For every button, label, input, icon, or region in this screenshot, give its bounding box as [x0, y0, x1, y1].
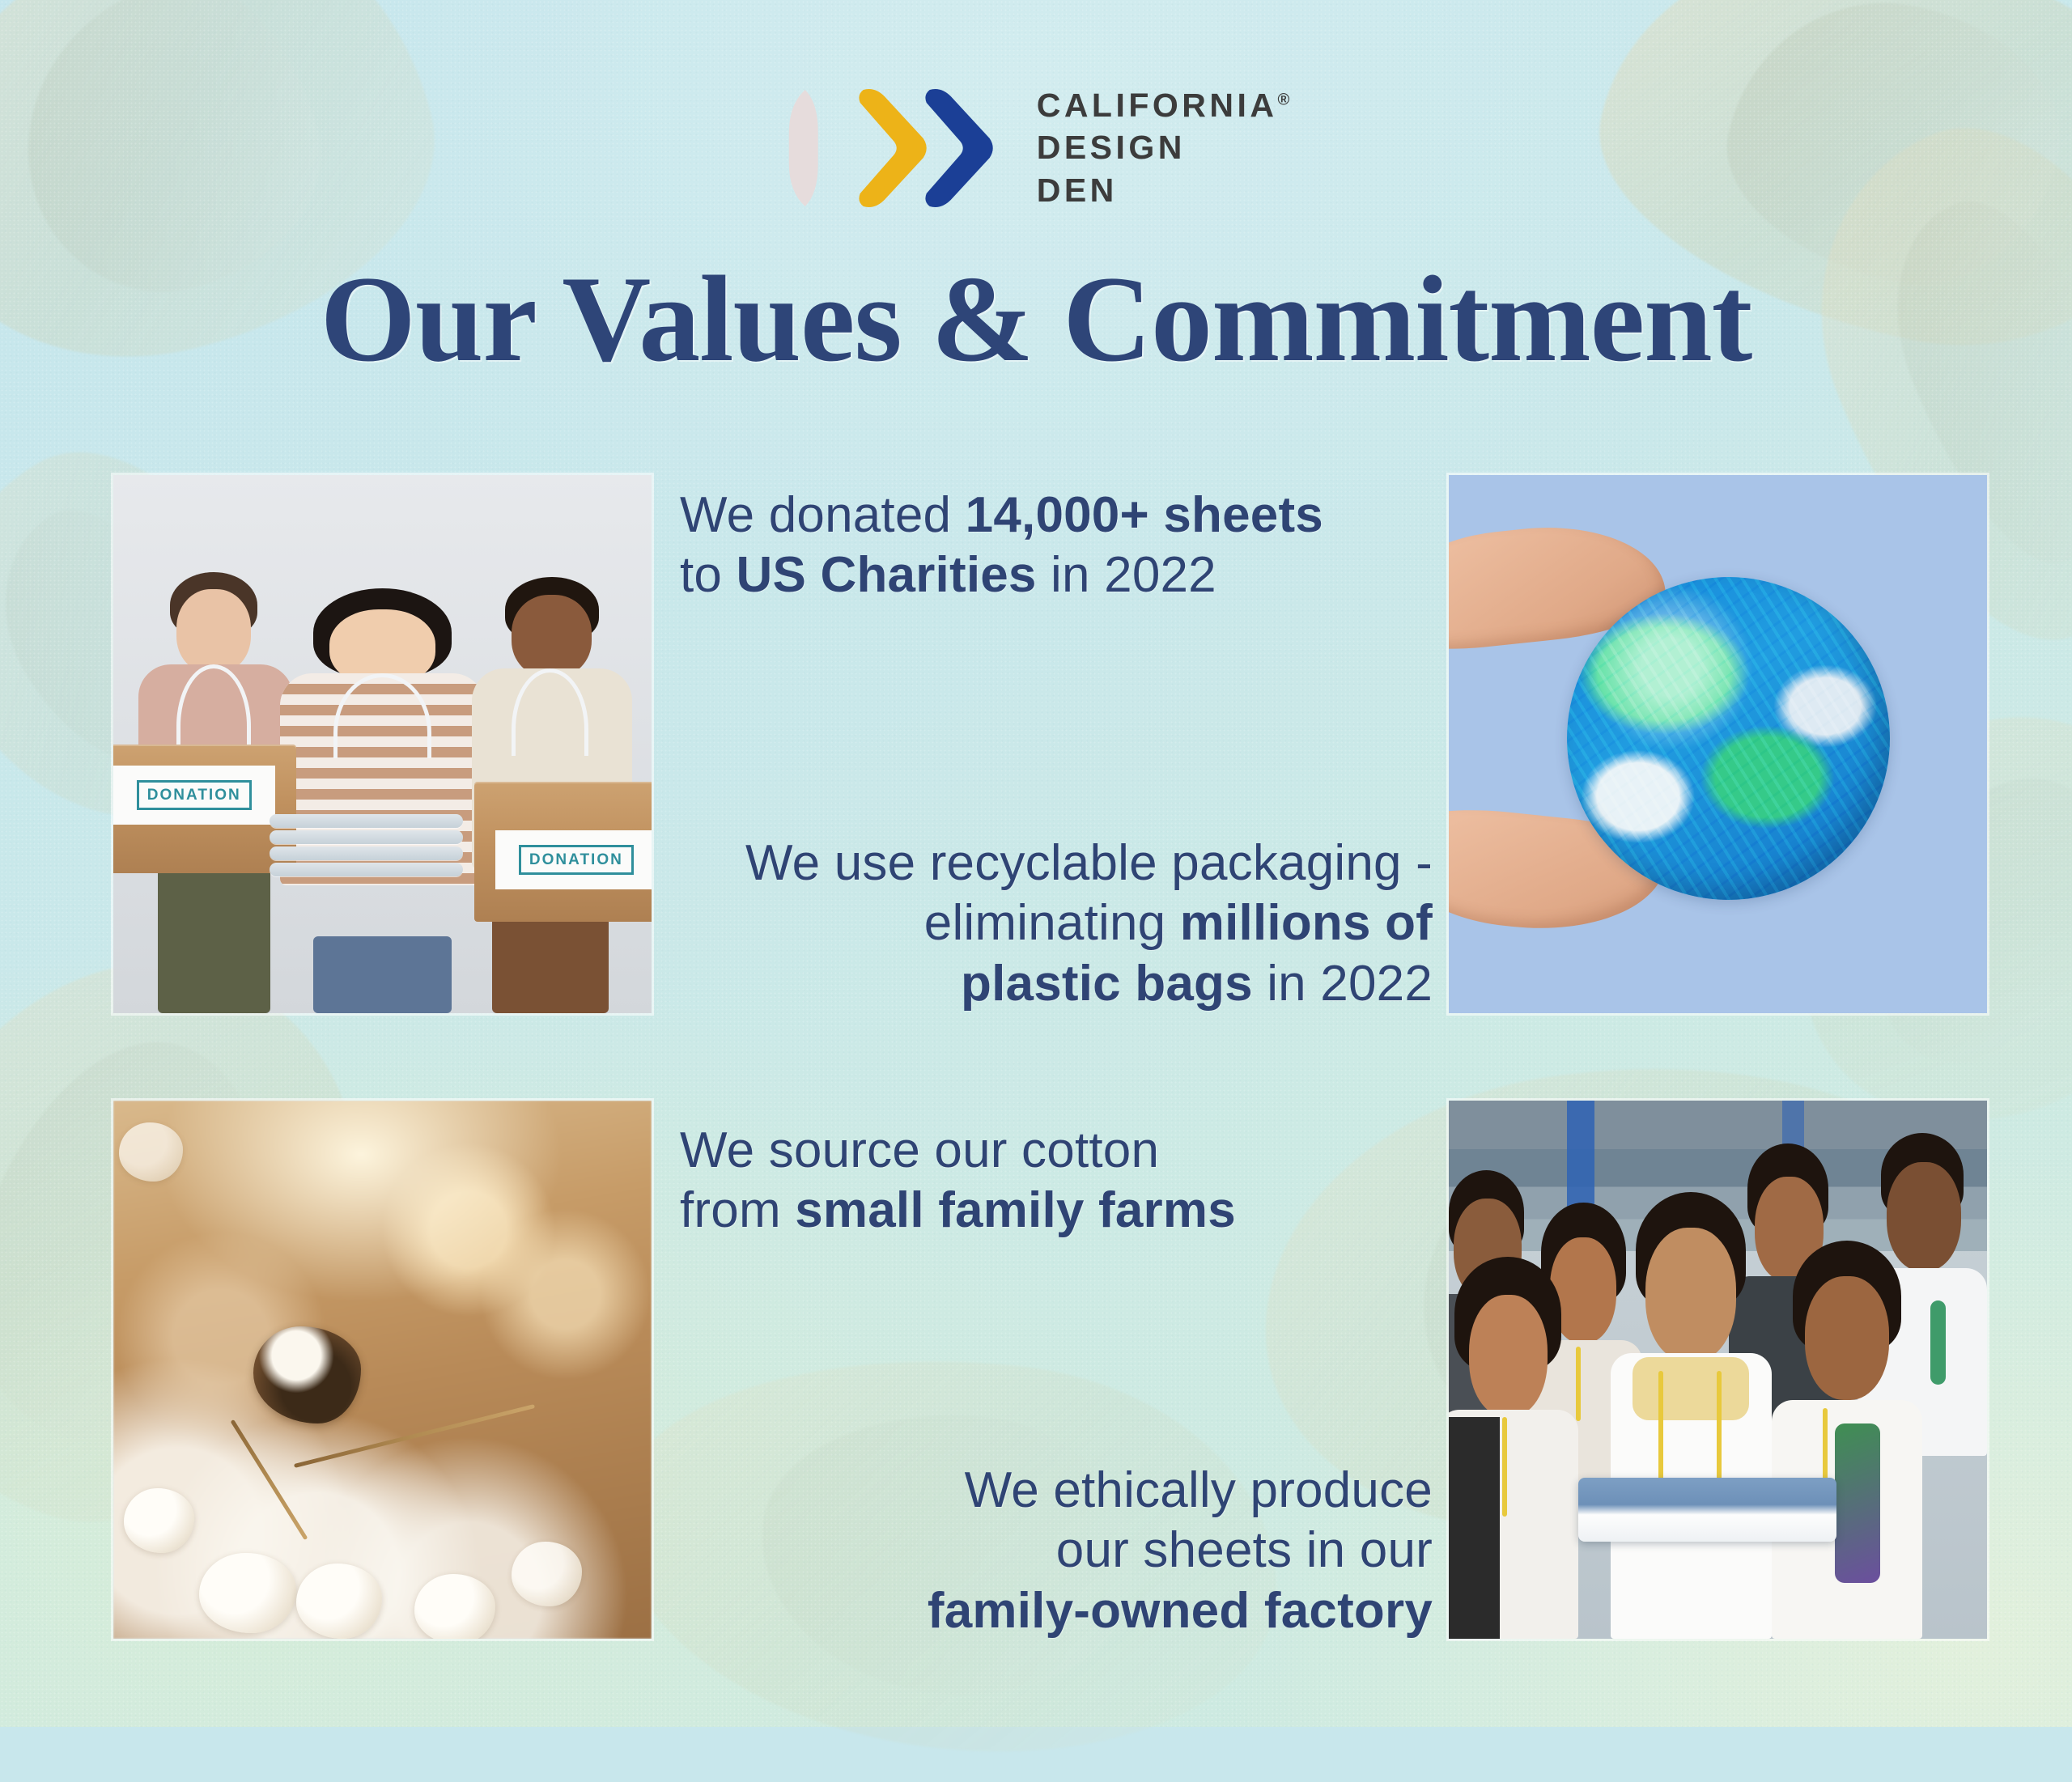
page-title: Our Values & Commitment	[0, 257, 2072, 380]
donation-label-text: DONATION	[137, 780, 252, 810]
folded-sheets-stack	[270, 814, 463, 879]
donation-box-label-left: DONATION	[113, 766, 275, 825]
logo-line-3: DEN	[1037, 169, 1290, 211]
photo-donation-volunteers: DONATION DONATION	[113, 475, 652, 1013]
folded-blue-sheet	[1578, 1478, 1836, 1542]
value-statement-cotton: We source our cottonfrom small family fa…	[680, 1121, 1376, 1241]
plastic-bag-globe-icon	[1567, 577, 1890, 900]
volunteer-center	[280, 588, 485, 1013]
factory-worker-front-left	[1449, 1257, 1578, 1639]
photo-plastic-bag-globe	[1449, 475, 1987, 1013]
photo-cotton-field	[113, 1101, 652, 1639]
value-statement-donation: We donated 14,000+ sheetsto US Charities…	[680, 486, 1352, 606]
logo-wordmark: CALIFORNIA® DESIGN DEN	[1037, 84, 1290, 211]
donation-label-text: DONATION	[519, 845, 634, 875]
factory-worker-front-right	[1772, 1241, 1922, 1639]
photo-factory-workers	[1449, 1101, 1987, 1639]
chevron-blue-icon	[915, 87, 1000, 210]
value-statement-packaging: We use recyclable packaging -eliminating…	[688, 834, 1433, 1014]
value-statement-factory: We ethically produceour sheets in ourfam…	[809, 1461, 1433, 1641]
donation-box-label-right: DONATION	[495, 830, 652, 889]
logo-chevron-group	[783, 87, 982, 210]
brand-logo[interactable]: CALIFORNIA® DESIGN DEN	[783, 84, 1290, 211]
logo-line-2: DESIGN	[1037, 126, 1290, 168]
registered-trademark-icon: ®	[1278, 91, 1290, 108]
factory-worker-front-center	[1611, 1192, 1773, 1639]
infographic-page: CALIFORNIA® DESIGN DEN Our Values & Comm…	[0, 0, 2072, 1727]
logo-line-1: CALIFORNIA®	[1037, 84, 1290, 126]
